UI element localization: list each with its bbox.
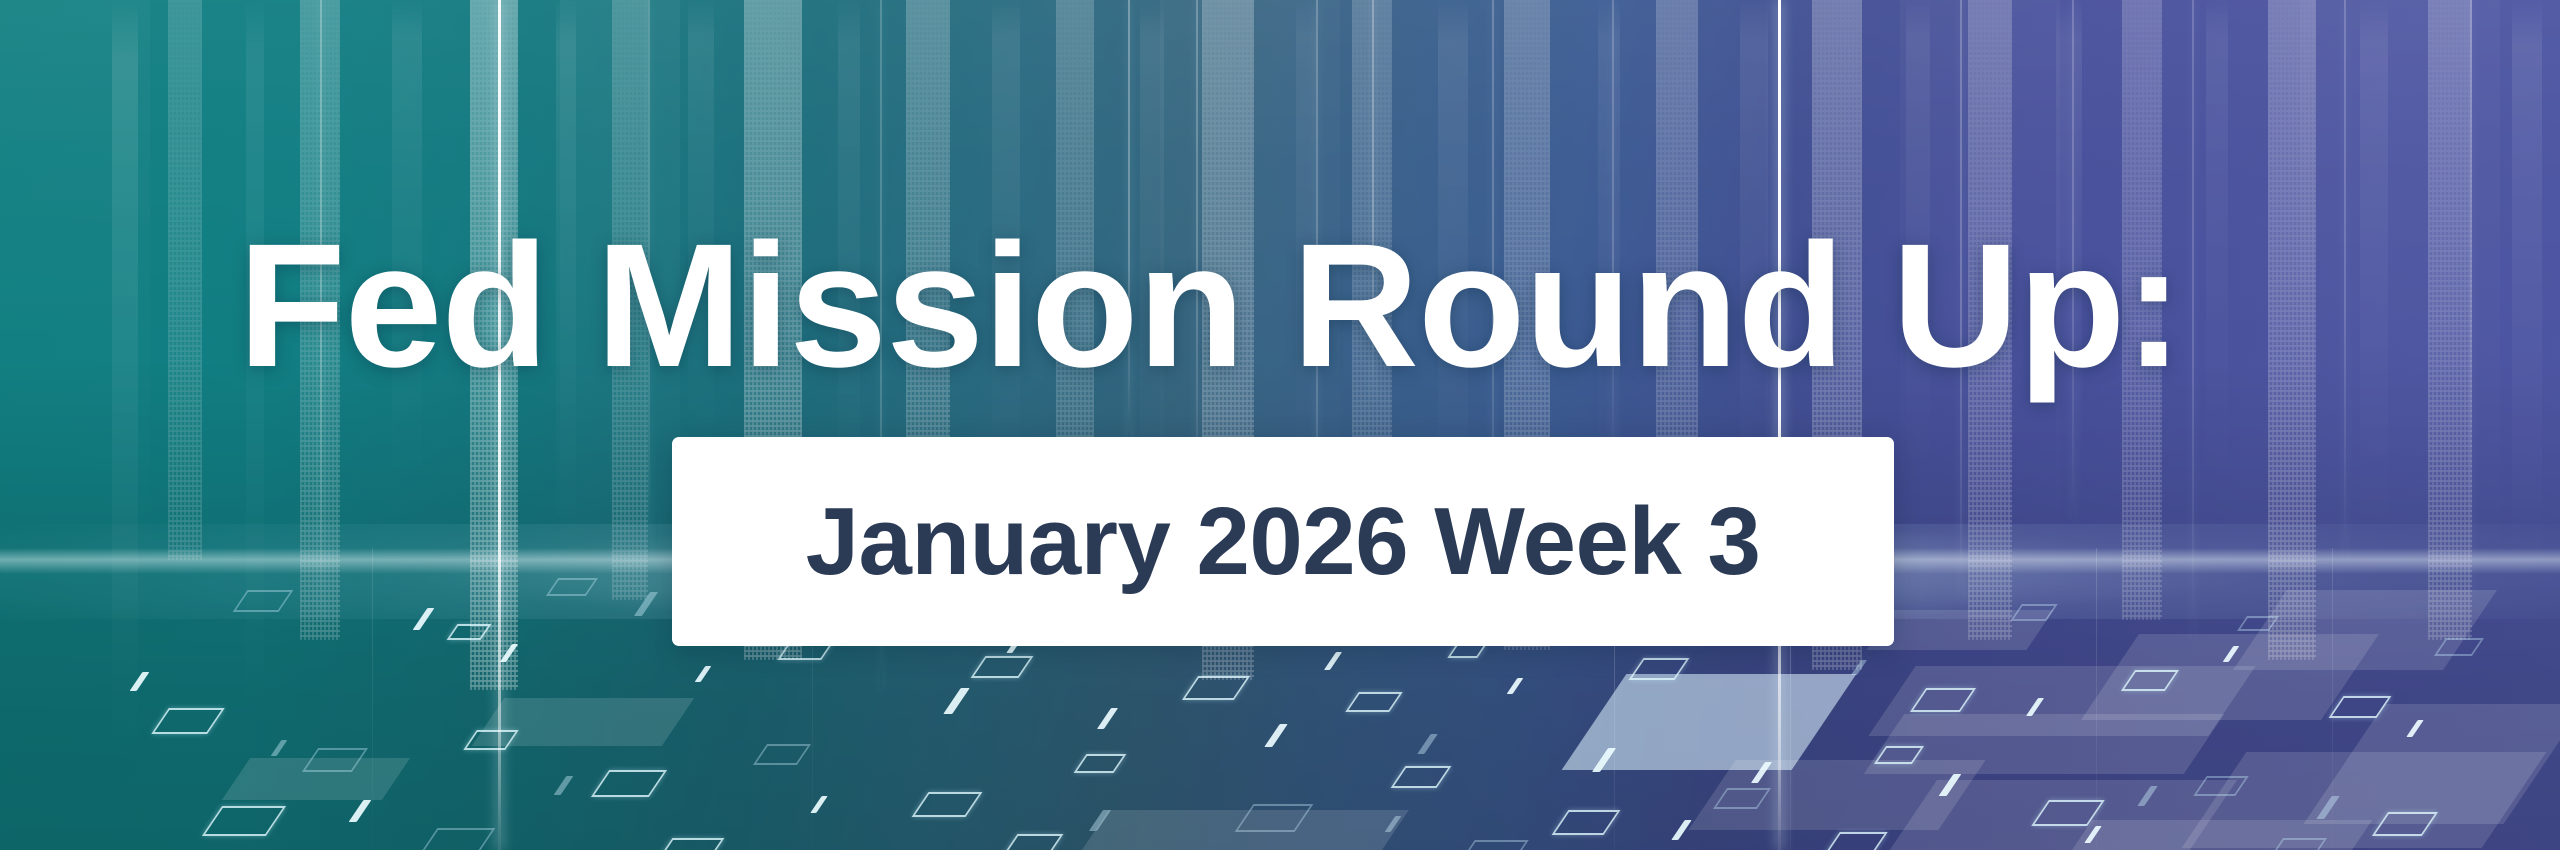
floor-data-glyph xyxy=(1457,840,1529,850)
subtitle-text: January 2026 Week 3 xyxy=(806,494,1761,590)
floor-data-glyph xyxy=(1391,766,1452,788)
floor-data-tick xyxy=(1507,678,1524,694)
floor-guide-line xyxy=(372,548,373,850)
floor-data-glyph xyxy=(591,770,667,797)
floor-data-glyph xyxy=(971,656,1034,678)
floor-data-tick xyxy=(1671,820,1691,840)
floor-data-glyph xyxy=(151,708,225,734)
floor-data-tick xyxy=(130,672,150,691)
floor-data-glyph xyxy=(463,730,518,750)
floor-data-glyph xyxy=(753,744,811,765)
floor-data-glyph xyxy=(656,838,725,850)
floor-data-tick xyxy=(1417,734,1437,754)
floor-data-glyph xyxy=(1003,834,1064,850)
floor-data-tick xyxy=(695,666,712,682)
data-rain-column xyxy=(2360,0,2388,520)
fed-mission-banner: Fed Mission Round Up: January 2026 Week … xyxy=(0,0,2560,850)
floor-data-tick xyxy=(1324,652,1342,670)
floor-data-tick xyxy=(413,608,435,630)
foreground-light-beam xyxy=(498,0,501,850)
floor-data-glyph xyxy=(1074,754,1127,773)
floor-data-tick xyxy=(1097,708,1118,729)
floor-data-tick xyxy=(634,592,658,616)
floor-data-tick xyxy=(349,800,372,822)
data-rain-column xyxy=(2512,0,2542,560)
floor-data-glyph xyxy=(202,806,286,836)
floor-data-glyph xyxy=(1824,832,1888,850)
floor-data-glyph xyxy=(1182,676,1250,700)
floor-data-tick xyxy=(554,776,574,795)
page-title: Fed Mission Round Up: xyxy=(238,218,2182,394)
floor-data-glyph xyxy=(419,828,496,850)
hairline-light-beam xyxy=(2344,0,2346,560)
floor-data-tick xyxy=(1851,660,1867,675)
floor-data-glyph xyxy=(1447,644,1486,658)
floor-data-glyph xyxy=(546,578,598,596)
floor-panel xyxy=(2233,590,2497,670)
floor-data-glyph xyxy=(447,624,492,640)
floor-data-glyph xyxy=(1552,810,1621,835)
hairline-light-beam xyxy=(2470,0,2472,600)
data-rain-column xyxy=(168,0,202,560)
floor-panel xyxy=(2052,820,2372,850)
data-rain-column xyxy=(2206,0,2228,470)
floor-data-glyph xyxy=(233,590,294,612)
floor-data-glyph xyxy=(2010,604,2057,621)
foreground-light-beam xyxy=(1778,0,1781,850)
floor-data-tick xyxy=(271,740,288,756)
floor-data-tick xyxy=(943,688,970,714)
subtitle-card: January 2026 Week 3 xyxy=(672,437,1894,646)
floor-data-tick xyxy=(1264,724,1288,747)
floor-data-tick xyxy=(500,644,518,662)
floor-data-glyph xyxy=(912,792,983,817)
floor-data-glyph xyxy=(1345,692,1402,712)
